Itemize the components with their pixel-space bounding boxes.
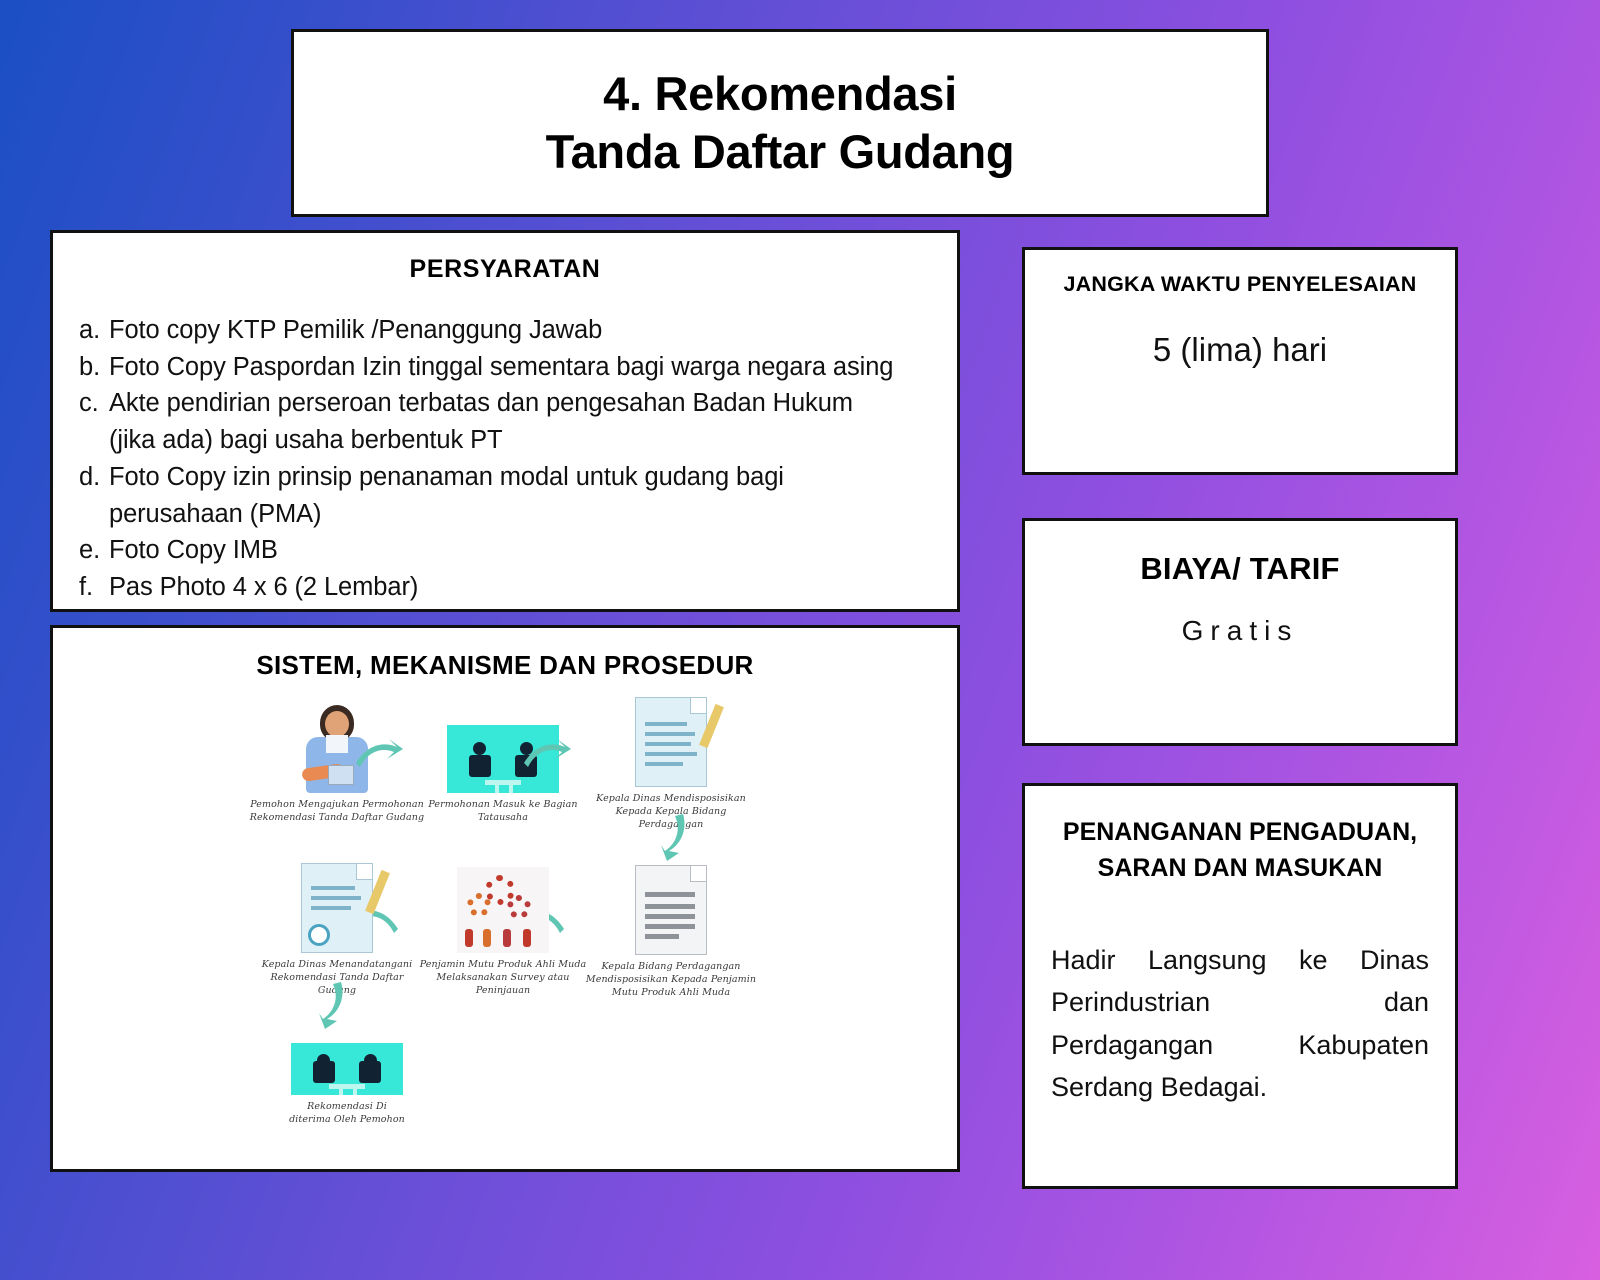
complaints-heading-line-1: PENANGANAN PENGADUAN, bbox=[1051, 814, 1429, 850]
requirements-list: a. Foto copy KTP Pemilik /Penanggung Jaw… bbox=[79, 312, 931, 606]
procedure-heading: SISTEM, MEKANISME DAN PROSEDUR bbox=[63, 650, 947, 681]
arrow-right-icon-1 bbox=[353, 737, 405, 771]
page-title-line-1: 4. Rekomendasi bbox=[603, 65, 957, 123]
list-item: c. Akte pendirian perseroan terbatas dan… bbox=[79, 385, 931, 422]
document-pen-icon bbox=[583, 691, 759, 787]
complaints-body: Hadir Langsung ke Dinas Perindustrian da… bbox=[1051, 939, 1429, 1110]
flow-step-4-caption: Kepala Bidang PerdaganganMendisposisikan… bbox=[583, 961, 759, 999]
fee-panel: BIAYA/ TARIF Gratis bbox=[1022, 518, 1458, 746]
list-item-marker: e. bbox=[79, 532, 109, 569]
processing-time-heading: JANGKA WAKTU PENYELESAIAN bbox=[1045, 272, 1435, 297]
list-item: d. Foto Copy izin prinsip penanaman moda… bbox=[79, 459, 931, 496]
meeting-desk-icon bbox=[259, 1033, 435, 1095]
list-item-marker: d. bbox=[79, 459, 109, 496]
arrow-down-icon-1 bbox=[657, 811, 691, 863]
document-grey-icon bbox=[583, 859, 759, 955]
flow-step-4: Kepala Bidang PerdaganganMendisposisikan… bbox=[583, 859, 759, 999]
processing-time-panel: JANGKA WAKTU PENYELESAIAN 5 (lima) hari bbox=[1022, 247, 1458, 475]
fee-heading: BIAYA/ TARIF bbox=[1045, 551, 1435, 587]
fee-value: Gratis bbox=[1045, 615, 1435, 647]
flow-step-6: Kepala Dinas MenandatanganiRekomendasi T… bbox=[249, 857, 425, 997]
flow-step-1-caption: Pemohon Mengajukan PermohonanRekomendasi… bbox=[249, 799, 425, 825]
flow-step-5: Penjamin Mutu Produk Ahli MudaMelaksanak… bbox=[415, 857, 591, 997]
requirements-panel: PERSYARATAN a. Foto copy KTP Pemilik /Pe… bbox=[50, 230, 960, 612]
gears-team-icon bbox=[415, 857, 591, 953]
list-item-marker: c. bbox=[79, 385, 109, 422]
list-item-text: Akte pendirian perseroan terbatas dan pe… bbox=[109, 385, 931, 422]
complaints-heading: PENANGANAN PENGADUAN, SARAN DAN MASUKAN bbox=[1051, 814, 1429, 887]
list-item-text: Foto Copy IMB bbox=[109, 532, 931, 569]
list-item-text: Foto Copy izin prinsip penanaman modal u… bbox=[109, 459, 931, 496]
list-item-text: Pas Photo 4 x 6 (2 Lembar) bbox=[109, 569, 931, 606]
list-item-text: (jika ada) bagi usaha berbentuk PT bbox=[109, 422, 931, 459]
flow-step-2-caption: Permohonan Masuk ke BagianTatausaha bbox=[415, 799, 591, 825]
list-item-continuation: c. (jika ada) bagi usaha berbentuk PT bbox=[79, 422, 931, 459]
list-item-text: Foto copy KTP Pemilik /Penanggung Jawab bbox=[109, 312, 931, 349]
flow-step-5-caption: Penjamin Mutu Produk Ahli MudaMelaksanak… bbox=[415, 959, 591, 997]
flow-step-7: Rekomendasi Diditerima Oleh Pemohon bbox=[259, 1033, 435, 1127]
procedure-flow-diagram: Pemohon Mengajukan PermohonanRekomendasi… bbox=[63, 691, 947, 1131]
list-item: b. Foto Copy Paspordan Izin tinggal seme… bbox=[79, 349, 931, 386]
arrow-down-icon-2 bbox=[315, 979, 349, 1031]
procedure-panel: SISTEM, MEKANISME DAN PROSEDUR Pemohon M… bbox=[50, 625, 960, 1172]
list-item: f. Pas Photo 4 x 6 (2 Lembar) bbox=[79, 569, 931, 606]
list-item-marker: f. bbox=[79, 569, 109, 606]
list-item: e. Foto Copy IMB bbox=[79, 532, 931, 569]
list-item: a. Foto copy KTP Pemilik /Penanggung Jaw… bbox=[79, 312, 931, 349]
list-item-marker: a. bbox=[79, 312, 109, 349]
document-clock-icon bbox=[249, 857, 425, 953]
page-title-card: 4. Rekomendasi Tanda Daftar Gudang bbox=[291, 29, 1269, 217]
flow-step-7-caption: Rekomendasi Diditerima Oleh Pemohon bbox=[259, 1101, 435, 1127]
page-title-line-2: Tanda Daftar Gudang bbox=[546, 123, 1015, 181]
processing-time-value: 5 (lima) hari bbox=[1045, 331, 1435, 369]
list-item-text: Foto Copy Paspordan Izin tinggal sementa… bbox=[109, 349, 931, 386]
requirements-heading: PERSYARATAN bbox=[79, 255, 931, 284]
list-item-continuation: d. perusahaan (PMA) bbox=[79, 496, 931, 533]
complaints-heading-line-2: SARAN DAN MASUKAN bbox=[1051, 850, 1429, 886]
complaints-panel: PENANGANAN PENGADUAN, SARAN DAN MASUKAN … bbox=[1022, 783, 1458, 1189]
arrow-right-icon-2 bbox=[521, 737, 573, 771]
list-item-text: perusahaan (PMA) bbox=[109, 496, 931, 533]
list-item-marker: b. bbox=[79, 349, 109, 386]
